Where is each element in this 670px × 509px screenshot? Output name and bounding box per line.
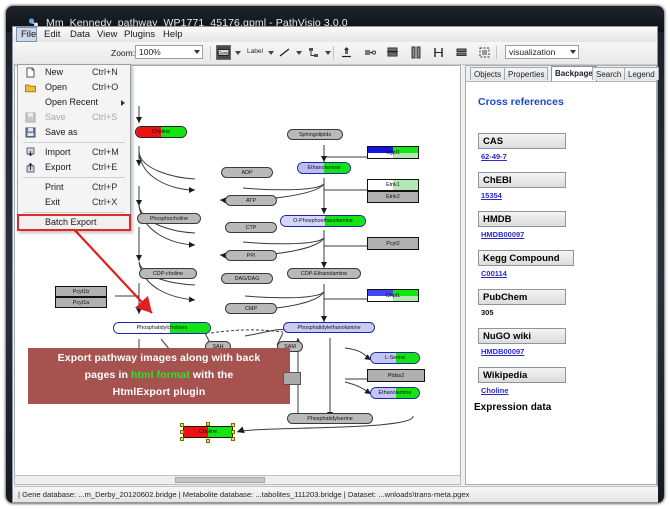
menu-item-label: Exit xyxy=(45,195,60,210)
xref-value-chebi[interactable]: 15354 xyxy=(481,191,650,200)
xref-name: HMDB xyxy=(483,214,512,225)
interaction-icon[interactable] xyxy=(306,45,321,60)
menu-item-open[interactable]: Open Ctrl+O xyxy=(18,80,130,95)
menu-item-label: Save xyxy=(45,110,66,125)
menu-plugins[interactable]: Plugins xyxy=(120,28,159,41)
new-file-icon xyxy=(25,67,36,78)
menu-item-accel: Ctrl+X xyxy=(92,195,117,210)
status-text: | Gene database: ...m_Derby_20120602.bri… xyxy=(18,490,469,499)
xref-name: CAS xyxy=(483,136,503,147)
xref-name: Kegg Compound xyxy=(483,253,560,264)
menu-item-accel: Ctrl+P xyxy=(92,180,117,195)
xref-header-hmdb: HMDB xyxy=(478,211,566,227)
menu-item-label: Export xyxy=(45,160,71,175)
xref-name: ChEBI xyxy=(483,175,512,186)
group-icon[interactable] xyxy=(477,45,492,60)
menu-item-save-as[interactable]: Save as xyxy=(18,125,130,140)
menu-item-label: Print xyxy=(45,180,64,195)
xref-header-pubchem: PubChem xyxy=(478,289,566,305)
menu-file[interactable]: File xyxy=(16,27,37,42)
annotation-html-format: html format xyxy=(131,369,190,381)
open-folder-icon xyxy=(25,82,36,93)
menu-item-print[interactable]: Print Ctrl+P xyxy=(18,180,130,195)
menu-item-import[interactable]: Import Ctrl+M xyxy=(18,145,130,160)
tab-legend[interactable]: Legend xyxy=(624,67,659,80)
xref-header-nugo: NuGO wiki xyxy=(478,328,566,344)
expression-data-title: Expression data xyxy=(474,402,650,413)
annotation-line-3: HtmlExport plugin xyxy=(28,386,290,398)
menu-data[interactable]: Data xyxy=(66,28,94,41)
tab-search[interactable]: Search xyxy=(592,67,625,80)
chevron-down-icon xyxy=(194,50,200,54)
menu-item-label: Open Recent xyxy=(45,95,98,110)
align-middle-icon[interactable] xyxy=(362,45,377,60)
xref-name: NuGO wiki xyxy=(483,331,531,342)
line-icon[interactable] xyxy=(277,45,292,60)
same-height-icon[interactable] xyxy=(431,45,446,60)
xref-name: Wikipedia xyxy=(483,370,527,381)
align-bottom-icon[interactable] xyxy=(385,45,400,60)
backpage-title: Cross references xyxy=(478,96,650,108)
menu-bar: File Edit Data View Plugins Help xyxy=(13,27,657,43)
datanode-icon[interactable]: Gene xyxy=(216,45,231,60)
menu-item-accel: Ctrl+N xyxy=(92,65,118,80)
annotation-line-1: Export pathway images along with back xyxy=(28,352,290,364)
backpage-content: Cross references CAS 62-49-7 ChEBI 15354… xyxy=(472,84,650,479)
label-button-label[interactable]: Label xyxy=(247,48,263,55)
datanode-dropdown-icon[interactable] xyxy=(235,51,241,55)
stack-icon[interactable] xyxy=(454,45,469,60)
xref-value-kegg[interactable]: C00114 xyxy=(481,269,650,278)
menu-item-accel: Ctrl+O xyxy=(92,80,118,95)
xref-value-nugo[interactable]: HMDB00097 xyxy=(481,347,650,356)
menu-item-save: Save Ctrl+S xyxy=(18,110,130,125)
save-disk-icon xyxy=(25,112,36,123)
file-menu-dropdown[interactable]: New Ctrl+N Open Ctrl+O Open Recent Save … xyxy=(17,64,131,231)
menu-item-accel: Ctrl+M xyxy=(92,145,119,160)
menu-separator xyxy=(23,177,125,178)
xref-header-cas: CAS xyxy=(478,133,566,149)
xref-value-cas[interactable]: 62-49-7 xyxy=(481,152,650,161)
menu-help[interactable]: Help xyxy=(159,28,187,41)
menu-item-label: Import xyxy=(45,145,71,160)
menu-item-label: Batch Export xyxy=(45,215,97,230)
xref-value-pubchem: 305 xyxy=(481,308,650,317)
application-body: File Edit Data View Plugins Help Zoom: 1… xyxy=(12,26,658,503)
save-as-icon xyxy=(25,127,36,138)
status-bar: | Gene database: ...m_Derby_20120602.bri… xyxy=(14,486,658,502)
sidebar-tabstrip: Objects Properties Backpage Search Legen… xyxy=(466,66,656,82)
menu-view[interactable]: View xyxy=(93,28,121,41)
zoom-value: 100% xyxy=(139,47,161,57)
label-dropdown-icon[interactable] xyxy=(268,51,274,55)
screenshot-root: Mm_Kennedy_pathway_WP1771_45176.gpml - P… xyxy=(0,0,670,509)
sidebar-panel: Objects Properties Backpage Search Legen… xyxy=(465,65,657,485)
xref-value-hmdb[interactable]: HMDB00097 xyxy=(481,230,650,239)
menu-item-export[interactable]: Export Ctrl+E xyxy=(18,160,130,175)
menu-item-label: Save as xyxy=(45,125,78,140)
svg-text:Gene: Gene xyxy=(218,50,229,55)
anchor-box xyxy=(283,372,301,385)
xref-header-wikipedia: Wikipedia xyxy=(478,367,566,383)
xref-value-wikipedia[interactable]: Choline xyxy=(481,386,650,395)
toolbar: Zoom: 100% Gene Label xyxy=(13,42,657,65)
export-icon xyxy=(25,162,36,173)
menu-item-new[interactable]: New Ctrl+N xyxy=(18,65,130,80)
tab-objects[interactable]: Objects xyxy=(470,67,505,80)
zoom-label: Zoom: xyxy=(111,48,135,58)
xref-header-kegg: Kegg Compound xyxy=(478,250,574,266)
xref-header-chebi: ChEBI xyxy=(478,172,566,188)
visualization-value: visualization xyxy=(509,47,555,57)
menu-item-exit[interactable]: Exit Ctrl+X xyxy=(18,195,130,210)
menu-item-label: New xyxy=(45,65,63,80)
align-top-icon[interactable] xyxy=(339,45,354,60)
chevron-down-icon xyxy=(570,50,576,54)
menu-item-accel: Ctrl+E xyxy=(92,160,117,175)
annotation-line-2b: with the xyxy=(190,369,233,381)
menu-item-accel: Ctrl+S xyxy=(92,110,117,125)
menu-item-batch-export[interactable]: Batch Export xyxy=(18,215,130,230)
visualization-combo[interactable]: visualization xyxy=(505,45,579,59)
tab-properties[interactable]: Properties xyxy=(504,67,548,80)
menu-item-open-recent[interactable]: Open Recent xyxy=(18,95,130,110)
annotation-banner: Export pathway images along with back pa… xyxy=(28,348,290,404)
same-width-icon[interactable] xyxy=(408,45,423,60)
xref-name: PubChem xyxy=(483,292,527,303)
tab-backpage[interactable]: Backpage xyxy=(551,66,597,81)
menu-separator xyxy=(23,142,125,143)
interaction-dropdown-icon[interactable] xyxy=(325,51,331,55)
menu-edit[interactable]: Edit xyxy=(40,28,64,41)
annotation-line-2a: pages in xyxy=(85,369,131,381)
menu-item-label: Open xyxy=(45,80,67,95)
submenu-arrow-icon xyxy=(121,100,125,106)
line-dropdown-icon[interactable] xyxy=(296,51,302,55)
zoom-combo[interactable]: 100% xyxy=(135,45,203,59)
import-icon xyxy=(25,147,36,158)
menu-separator xyxy=(23,212,125,213)
